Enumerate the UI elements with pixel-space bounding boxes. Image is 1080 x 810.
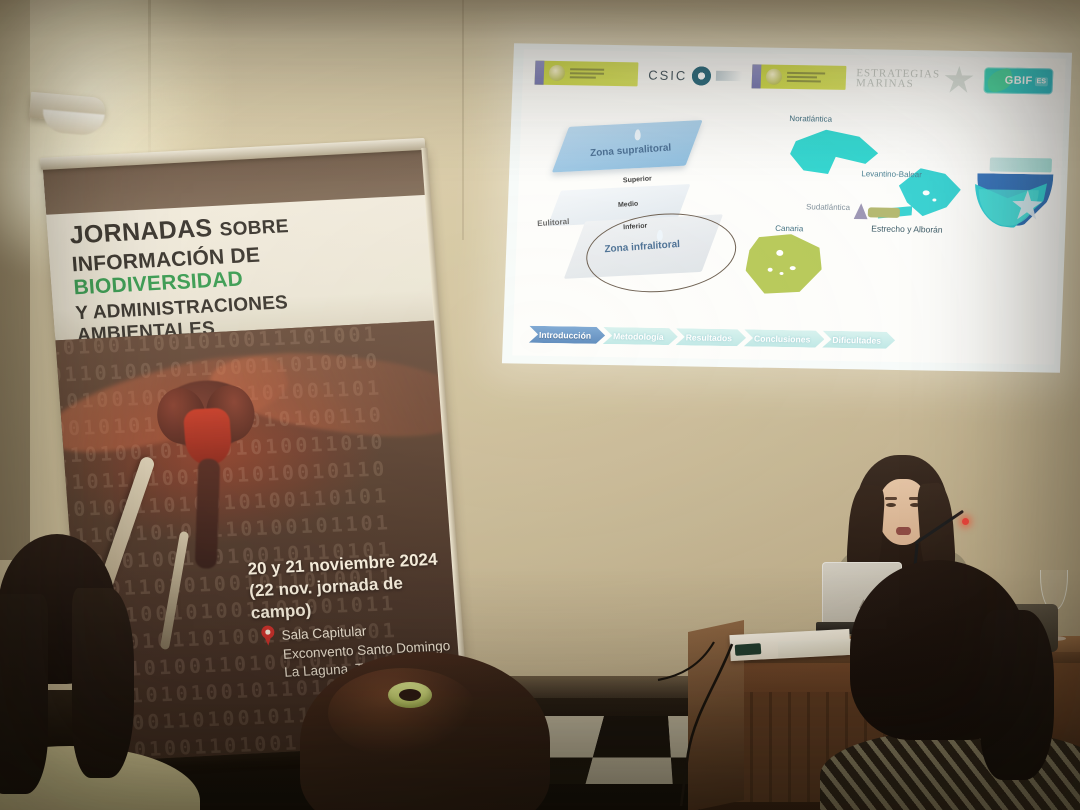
projection-screen: CSIC ESTRATEGIAS MARINAS [502,43,1072,372]
gbif-wordmark: GBIF [1005,75,1033,87]
ministerio-transicion-ecologica-logo [752,64,847,90]
wave-starfish-logo [973,155,1056,228]
slide-content: CSIC ESTRATEGIAS MARINAS [512,49,1066,364]
audience-left-hair-strand-right [72,588,134,778]
gbif-es-logo: GBIF ES [983,67,1053,94]
map-label-canaria: Canaria [775,224,803,233]
label-eulitoral: Eulitoral [537,217,569,228]
nav-chevron-conclusiones[interactable]: Conclusiones [744,329,825,347]
nav-chevron-introduccion[interactable]: Introducción [529,326,606,344]
nav-chevron-resultados[interactable]: Resultados [675,328,746,346]
gobierno-espana-logo [535,61,639,87]
presenter-mouth [896,527,911,535]
floor-cable [620,636,780,806]
map-pin-icon [261,625,275,645]
csic-wordmark: CSIC [648,67,688,83]
region-estrecho-alboran [868,207,900,218]
ministerio-crest-icon [766,69,783,85]
estrategias-marinas-logo: ESTRATEGIAS MARINAS [856,64,975,94]
audience-head-center [280,652,580,810]
csic-ring-icon [692,66,712,85]
slide-logo-header: CSIC ESTRATEGIAS MARINAS [522,55,1065,98]
littoral-zonation-diagram: Zona supralitoral Superior Medio Inferio… [536,112,758,311]
banner-title-sobre: SOBRE [219,216,290,241]
spain-crest-icon [549,65,566,81]
star-icon [943,66,974,95]
banner-dates: 20 y 21 noviembre 2024 (22 nov. jornada … [247,548,462,624]
label-medio: Medio [618,201,639,209]
spain-flag-strip-2 [752,64,762,88]
map-label-sudatlantica: Sudatlántica [806,202,850,212]
hair-scrunchie [388,682,432,708]
audience-left-hair-strand-left [0,594,48,794]
nav-chevron-metodologia[interactable]: Metodología [603,327,678,345]
banner-title-jornadas: JORNADAS [69,214,214,249]
region-canaria [745,233,823,294]
audience-right-hair-strand [980,610,1054,780]
map-label-levantino-balear: Levantino-Balear [861,169,922,179]
csic-logo: CSIC [648,65,743,86]
slide-section-nav: Introducción Metodología Resultados Conc… [529,326,1050,352]
microphone-indicator-light [962,518,969,525]
label-superior: Superior [623,175,652,184]
spain-flag-strip [535,61,545,85]
spain-marine-demarcations-map: Noratlántica Levantino-Balear Sudatlánti… [746,105,1066,330]
nav-chevron-dificultades[interactable]: Dificultades [822,331,895,349]
csic-logo-tail [716,71,742,81]
gbif-es-suffix: ES [1034,77,1048,86]
wave-logo-wordmark [990,157,1053,172]
presenter-eyebrow-left [885,497,897,500]
conference-room-photo: CSIC ESTRATEGIAS MARINAS [0,0,1080,810]
region-sudatlantica [854,203,869,219]
presenter-eye-left [886,503,896,507]
audience-head-left [0,534,170,810]
audience-head-right [830,560,1080,810]
dragonfly-abdomen [195,458,220,569]
map-label-estrecho-alboran: Estrecho y Alborán [871,223,943,234]
map-label-noratlantica: Noratlántica [789,114,832,124]
